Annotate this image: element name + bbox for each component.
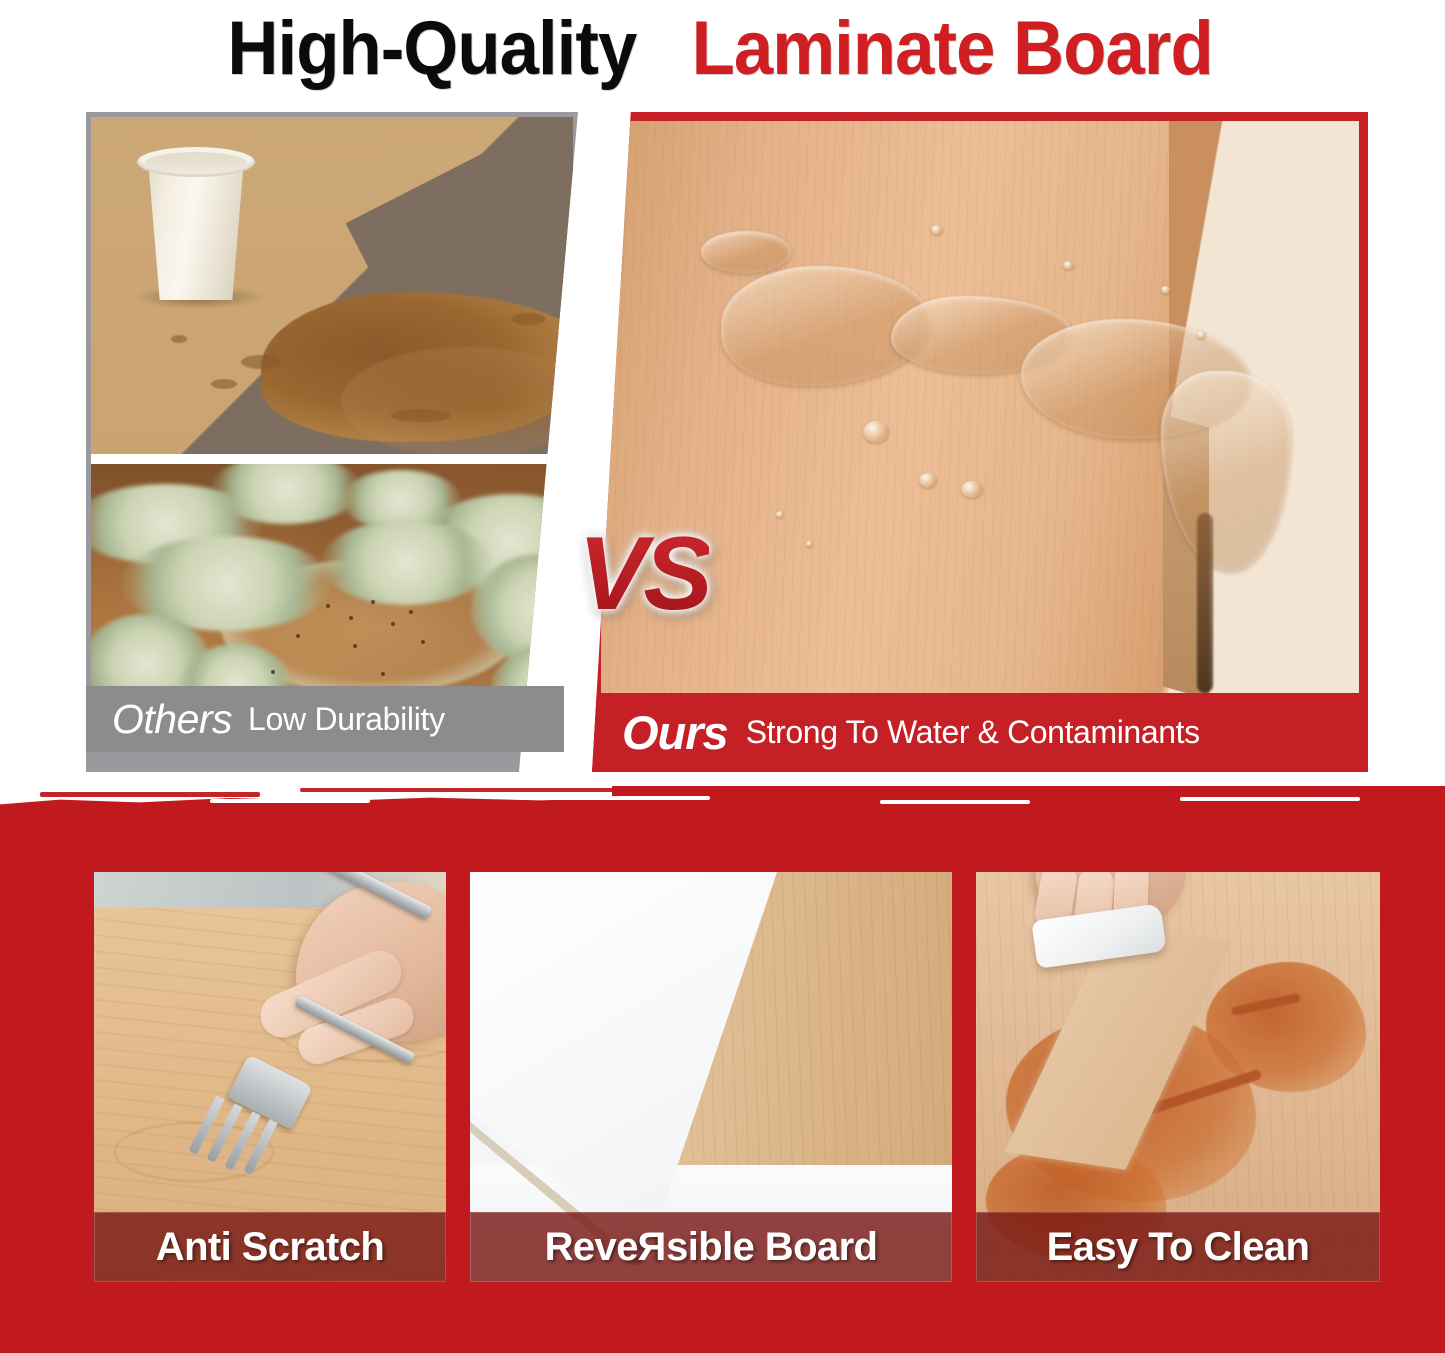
feature-label-reversible-board: ReveRsible Board xyxy=(545,1225,878,1270)
ours-subtitle: Strong To Water & Contaminants xyxy=(746,714,1200,751)
coffee-spill-pool-secondary xyxy=(341,347,573,454)
coffee-drip xyxy=(391,409,451,422)
features-section: Anti Scratch ReveRsible Board xyxy=(0,808,1445,1353)
ours-title: Ours xyxy=(622,705,728,760)
water-droplet xyxy=(776,511,784,518)
coffee-cup-spill-photo xyxy=(91,117,573,454)
photo-divider xyxy=(91,454,573,464)
coffee-drip xyxy=(171,335,187,343)
feature-label-plate: ReveRsible Board xyxy=(470,1212,952,1282)
coffee-drip xyxy=(211,379,237,389)
feature-label-anti-scratch: Anti Scratch xyxy=(156,1225,384,1270)
feature-label-easy-to-clean: Easy To Clean xyxy=(1047,1225,1310,1270)
others-title: Others xyxy=(112,696,232,743)
ours-label-bar: Ours Strong To Water & Contaminants xyxy=(592,693,1368,772)
water-droplet xyxy=(806,541,813,547)
ours-panel: Ours Strong To Water & Contaminants xyxy=(592,112,1368,772)
water-droplet xyxy=(1197,331,1206,339)
mold-growth-photo xyxy=(91,464,573,724)
water-beading-photo xyxy=(601,121,1359,693)
others-subtitle: Low Durability xyxy=(248,701,445,738)
others-panel xyxy=(86,112,578,772)
water-droplet xyxy=(863,421,889,443)
cup-interior xyxy=(145,152,247,174)
water-drip-run xyxy=(1197,513,1213,693)
coffee-drip xyxy=(511,313,545,325)
feature-card-anti-scratch[interactable]: Anti Scratch xyxy=(90,868,450,1286)
mirrored-r-glyph: R xyxy=(638,1225,666,1270)
headline-part-1: High-Quality xyxy=(228,5,637,92)
coffee-drip xyxy=(241,355,281,369)
headline-part-2: Laminate Board xyxy=(692,5,1213,92)
feature-card-easy-to-clean[interactable]: Easy To Clean xyxy=(972,868,1384,1286)
page-title: High-Quality Laminate Board xyxy=(0,0,1445,96)
feature-card-reversible-board[interactable]: ReveRsible Board xyxy=(466,868,956,1286)
feature-cards: Anti Scratch ReveRsible Board xyxy=(0,868,1445,1288)
label-part-suffix: sible Board xyxy=(666,1225,877,1269)
vs-badge: VS xyxy=(578,515,709,634)
water-droplet xyxy=(919,473,937,488)
water-droplet xyxy=(961,481,983,498)
others-label-bar: Others Low Durability xyxy=(86,686,564,752)
water-droplet xyxy=(1063,261,1074,270)
feature-label-plate: Anti Scratch xyxy=(94,1212,446,1282)
water-droplet xyxy=(931,225,943,235)
feature-label-plate: Easy To Clean xyxy=(976,1212,1380,1282)
water-droplet xyxy=(1161,286,1171,294)
water-puddle xyxy=(701,231,791,273)
comparison-section: Others Low Durability Ours Str xyxy=(0,96,1445,786)
mold-patch xyxy=(321,520,491,605)
label-part-prefix: Reve xyxy=(545,1225,638,1269)
